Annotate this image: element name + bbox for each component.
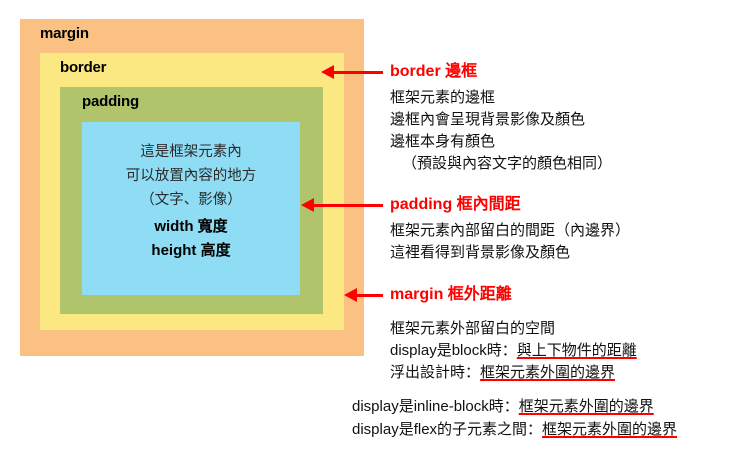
annotation-line: 框架元素內部留白的間距（內邊界） <box>390 220 630 242</box>
arrow-shaft <box>312 204 383 207</box>
rule-emphasis: 與上下物件的距離 <box>517 342 637 359</box>
annotation-line: 邊框本身有顏色 <box>390 131 612 153</box>
annotation-rule-line: display是flex的子元素之間：框架元素外圍的邊界 <box>352 418 677 441</box>
annotation-rule-line: 浮出設計時：框架元素外圍的邊界 <box>390 362 637 384</box>
arrow-to-border <box>321 65 383 79</box>
box-model-diagram: margin border padding 這是框架元素內 可以放置內容的地方 … <box>20 19 364 356</box>
rule-prefix: display是block時： <box>390 342 517 359</box>
annotation-margin: margin 框外距離 框架元素外部留白的空間 display是block時：與… <box>390 285 637 384</box>
annotation-line: （預設與內容文字的顏色相同） <box>390 153 612 175</box>
annotation-border-body: 框架元素的邊框 邊框內會呈現背景影像及顏色 邊框本身有顏色 （預設與內容文字的顏… <box>390 87 612 175</box>
content-description: 這是框架元素內 可以放置內容的地方 （文字、影像） <box>82 140 300 212</box>
annotation-border: border 邊框 框架元素的邊框 邊框內會呈現背景影像及顏色 邊框本身有顏色 … <box>390 62 612 175</box>
arrow-to-padding <box>301 198 383 212</box>
arrow-to-margin <box>344 288 383 302</box>
rule-emphasis: 框架元素外圍的邊界 <box>542 421 677 438</box>
rule-prefix: display是flex的子元素之間： <box>352 421 542 438</box>
content-box-layer: 這是框架元素內 可以放置內容的地方 （文字、影像） width 寬度 heigh… <box>82 122 300 295</box>
rule-prefix: display是inline-block時： <box>352 398 519 415</box>
annotation-line: 框架元素外部留白的空間 <box>390 318 637 340</box>
arrow-shaft <box>355 294 383 297</box>
annotation-margin-body: 框架元素外部留白的空間 display是block時：與上下物件的距離 浮出設計… <box>390 318 637 384</box>
rule-emphasis: 框架元素外圍的邊界 <box>519 398 654 415</box>
content-width-label: width 寬度 <box>82 215 300 239</box>
annotation-line: 邊框內會呈現背景影像及顏色 <box>390 109 612 131</box>
content-description-line: （文字、影像） <box>82 188 300 212</box>
content-dimensions: width 寬度 height 高度 <box>82 215 300 263</box>
padding-box-label: padding <box>82 93 139 110</box>
arrow-shaft <box>332 71 383 74</box>
rule-prefix: 浮出設計時： <box>390 364 480 381</box>
border-box-label: border <box>60 59 106 76</box>
annotation-rule-line: display是inline-block時：框架元素外圍的邊界 <box>352 395 677 418</box>
annotation-line: 框架元素的邊框 <box>390 87 612 109</box>
annotation-border-title: border 邊框 <box>390 62 612 82</box>
margin-box-label: margin <box>40 25 89 42</box>
rule-emphasis: 框架元素外圍的邊界 <box>480 364 615 381</box>
content-height-label: height 高度 <box>82 239 300 263</box>
annotation-extra-rules: display是inline-block時：框架元素外圍的邊界 display是… <box>352 395 677 441</box>
annotation-padding: padding 框內間距 框架元素內部留白的間距（內邊界） 這裡看得到背景影像及… <box>390 195 630 264</box>
annotation-line: 這裡看得到背景影像及顏色 <box>390 242 630 264</box>
annotation-padding-body: 框架元素內部留白的間距（內邊界） 這裡看得到背景影像及顏色 <box>390 220 630 264</box>
annotation-padding-title: padding 框內間距 <box>390 195 630 215</box>
content-description-line: 這是框架元素內 <box>82 140 300 164</box>
annotation-margin-title: margin 框外距離 <box>390 285 637 305</box>
annotation-rule-line: display是block時：與上下物件的距離 <box>390 340 637 362</box>
content-description-line: 可以放置內容的地方 <box>82 164 300 188</box>
